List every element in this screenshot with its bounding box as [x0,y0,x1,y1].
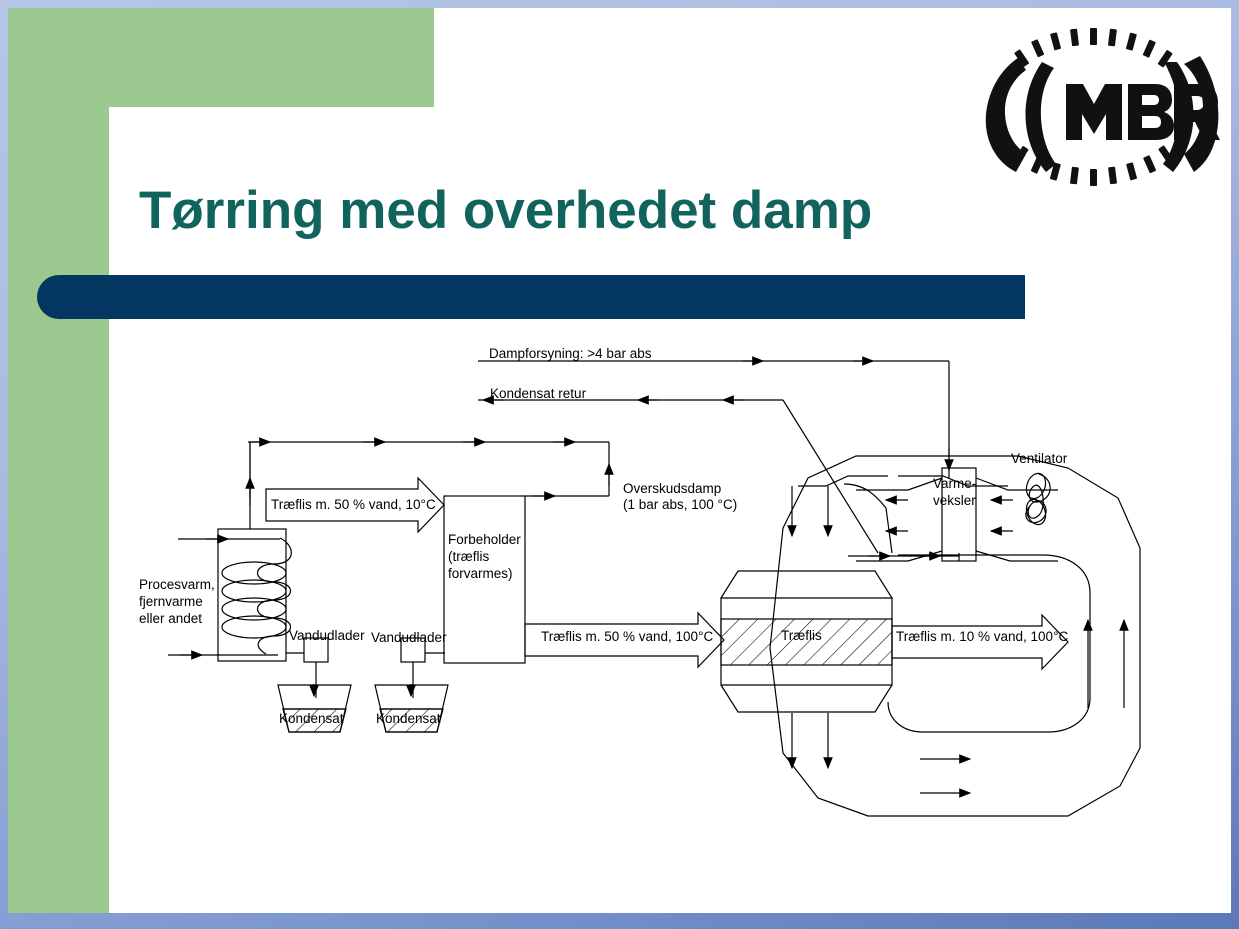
label-surplus-steam-2: (1 bar abs, 100 °C) [623,497,737,514]
label-prevessel-1: Forbeholder [448,532,521,549]
process-flow-diagram: Dampforsyning: >4 bar abs Kondensat retu… [8,8,1231,913]
label-dryer-bed: Træflis [781,628,822,645]
label-surplus-steam-1: Overskudsdamp [623,481,721,498]
label-water-trap-1: Vandudlader [289,628,365,645]
label-steam-supply: Dampforsyning: >4 bar abs [489,346,651,363]
label-condensate-2: Kondensat [376,711,441,728]
slide-canvas: Tørring med overhedet damp [8,8,1231,913]
label-fan: Ventilator [1011,451,1067,468]
label-condensate-1: Kondensat [279,711,344,728]
label-process-heat-1: Procesvarm, [139,577,215,594]
label-condensate-return: Kondensat retur [490,386,586,403]
label-process-heat-2: fjernvarme [139,594,203,611]
label-prevessel-3: forvarmes) [448,566,513,583]
label-process-heat-3: eller andet [139,611,202,628]
label-chips-mid: Træflis m. 50 % vand, 100°C [541,629,713,646]
label-chips-in: Træflis m. 50 % vand, 10°C [271,497,436,514]
label-heat-exchanger-1: Varme- [933,476,976,493]
label-water-trap-2: Vandudlader [371,630,447,647]
label-heat-exchanger-2: veksler [933,493,976,510]
slide-frame: Tørring med overhedet damp [0,0,1239,929]
label-chips-out: Træflis m. 10 % vand, 100°C [896,629,1068,646]
label-prevessel-2: (træflis [448,549,489,566]
